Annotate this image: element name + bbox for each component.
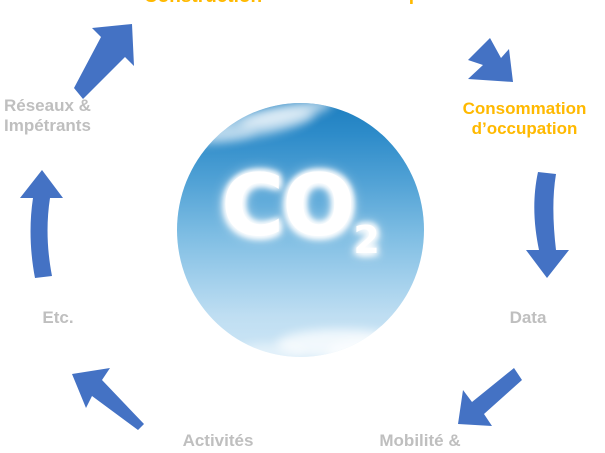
co2-sky-circle-image: CO2 — [177, 103, 424, 357]
cloud-wisp-icon — [327, 339, 417, 357]
cloud-wisp-icon — [194, 103, 317, 147]
label-activites: Activités — [128, 431, 308, 451]
co2-cycle-diagram: CO2 Construction d’exploitation Consomma… — [0, 0, 605, 453]
cloud-wisp-icon — [184, 124, 255, 148]
co2-subscript-text: 2 — [353, 218, 379, 262]
arrow-down-icon — [522, 170, 574, 280]
co2-main-text: CO — [221, 156, 353, 256]
co2-cloud-lettering: CO2 — [177, 163, 424, 259]
label-etc: Etc. — [0, 308, 116, 328]
label-exploitation: d’exploitation — [330, 0, 535, 6]
arrow-down-right-icon — [466, 38, 522, 90]
label-construction: Construction — [108, 0, 298, 8]
label-data: Data — [470, 308, 586, 328]
arrow-up-right-icon — [70, 22, 138, 100]
arrow-up-icon — [16, 168, 68, 280]
cloud-wisp-icon — [237, 343, 307, 357]
label-consommation-occupation: Consommation d’occupation — [444, 99, 605, 139]
cloud-wisp-icon — [238, 103, 335, 134]
cloud-wisp-icon — [277, 329, 407, 357]
arrow-down-left-icon — [458, 368, 522, 436]
label-reseaux-impetrants: Réseaux & Impétrants — [0, 96, 160, 136]
arrow-up-left-icon — [70, 366, 146, 430]
